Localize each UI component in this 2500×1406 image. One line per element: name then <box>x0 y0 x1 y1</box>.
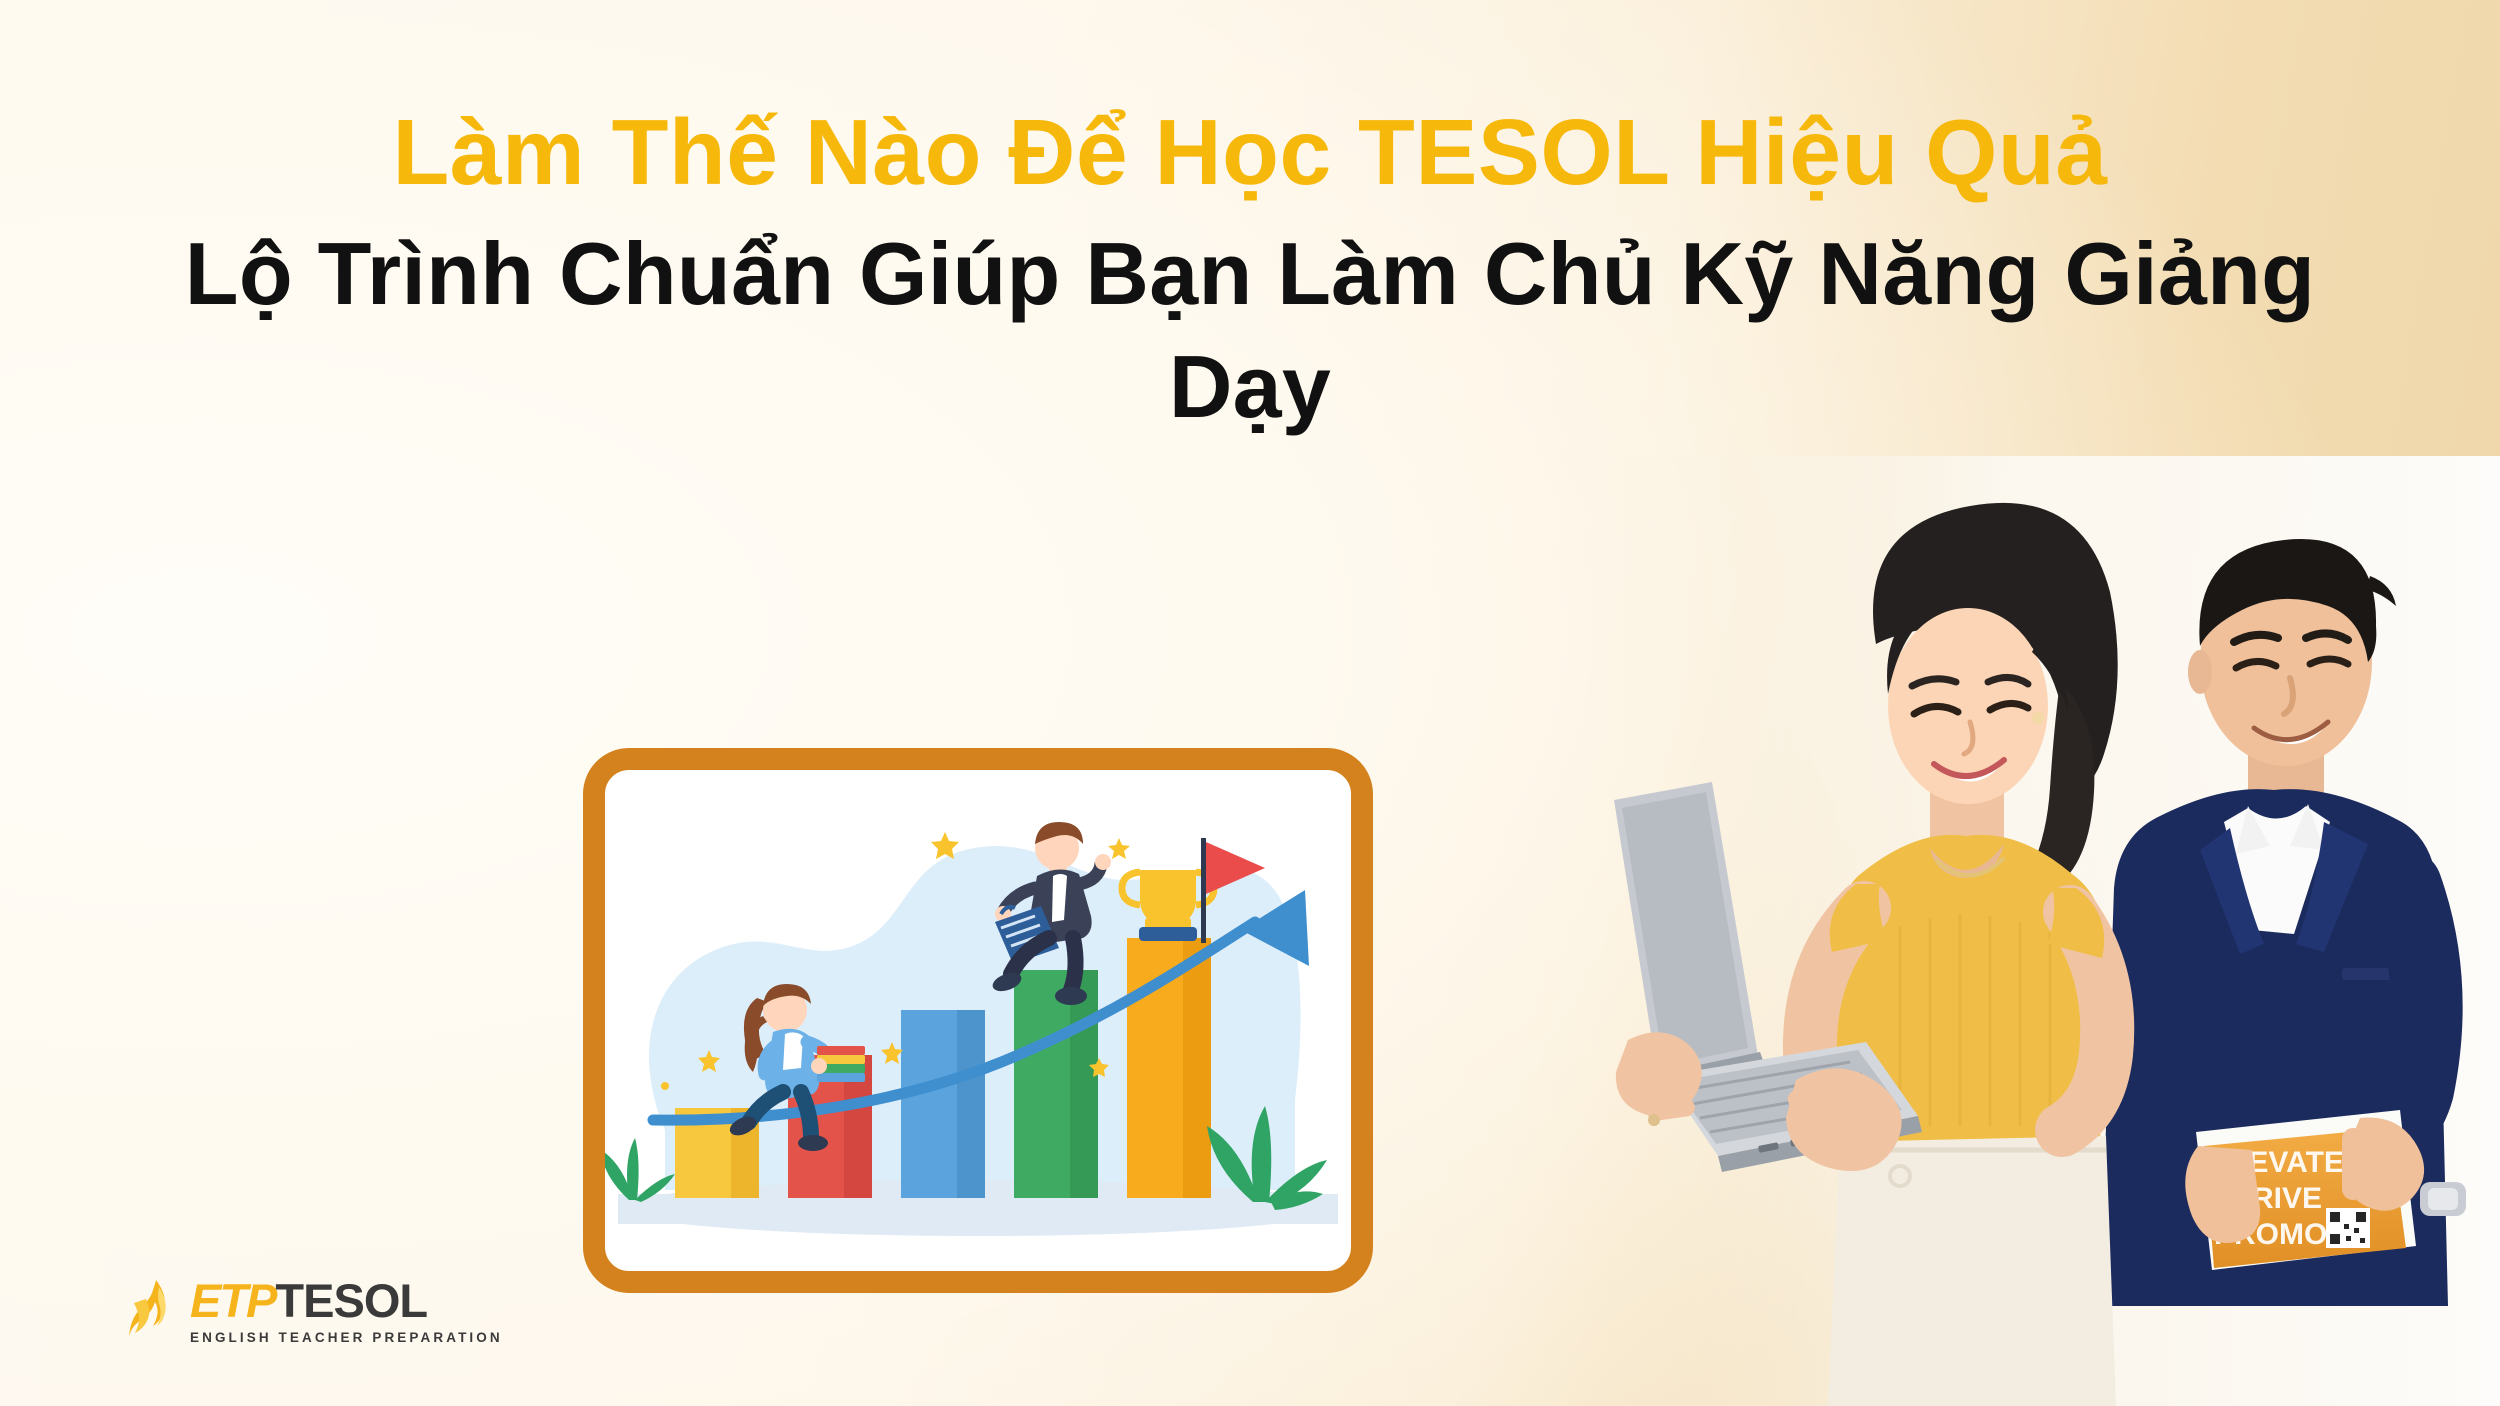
page-title-secondary: Lộ Trình Chuẩn Giúp Bạn Làm Chủ Kỹ Năng … <box>150 218 2350 443</box>
flame-icon <box>128 1279 174 1341</box>
logo-tesol-text: TESOL <box>275 1277 427 1324</box>
logo-etp-text: ETP <box>190 1277 275 1324</box>
poster-canvas: Làm Thế Nào Để Học TESOL Hiệu Quả Lộ Trì… <box>0 0 2500 1406</box>
plant-left-icon <box>605 1138 675 1202</box>
two-presenters-photo: ELEVATE THRIVE PROMO <box>1600 456 2500 1406</box>
brand-logo[interactable]: ETP TESOL ENGLISH TEACHER PREPARATION <box>128 1277 503 1345</box>
illustration-frame <box>583 748 1373 1293</box>
title-block: Làm Thế Nào Để Học TESOL Hiệu Quả Lộ Trì… <box>0 100 2500 443</box>
logo-tagline: ENGLISH TEACHER PREPARATION <box>190 1331 503 1345</box>
logo-name-row: ETP TESOL <box>190 1277 503 1324</box>
growth-chart-illustration <box>583 748 1373 1293</box>
photo-canvas: ELEVATE THRIVE PROMO <box>1600 456 2500 1406</box>
page-title-primary: Làm Thế Nào Để Học TESOL Hiệu Quả <box>0 100 2500 204</box>
logo-wordmark: ETP TESOL ENGLISH TEACHER PREPARATION <box>190 1277 503 1345</box>
bar-4 <box>1014 970 1098 1198</box>
illustration-canvas <box>605 770 1351 1271</box>
ground-strip <box>618 1194 1338 1224</box>
bar-3 <box>901 1010 985 1198</box>
wristwatch-icon <box>2420 1182 2466 1216</box>
qr-code-icon <box>2326 1208 2370 1248</box>
hand-fingers <box>2342 1128 2412 1202</box>
ring-icon <box>1648 1114 1660 1126</box>
